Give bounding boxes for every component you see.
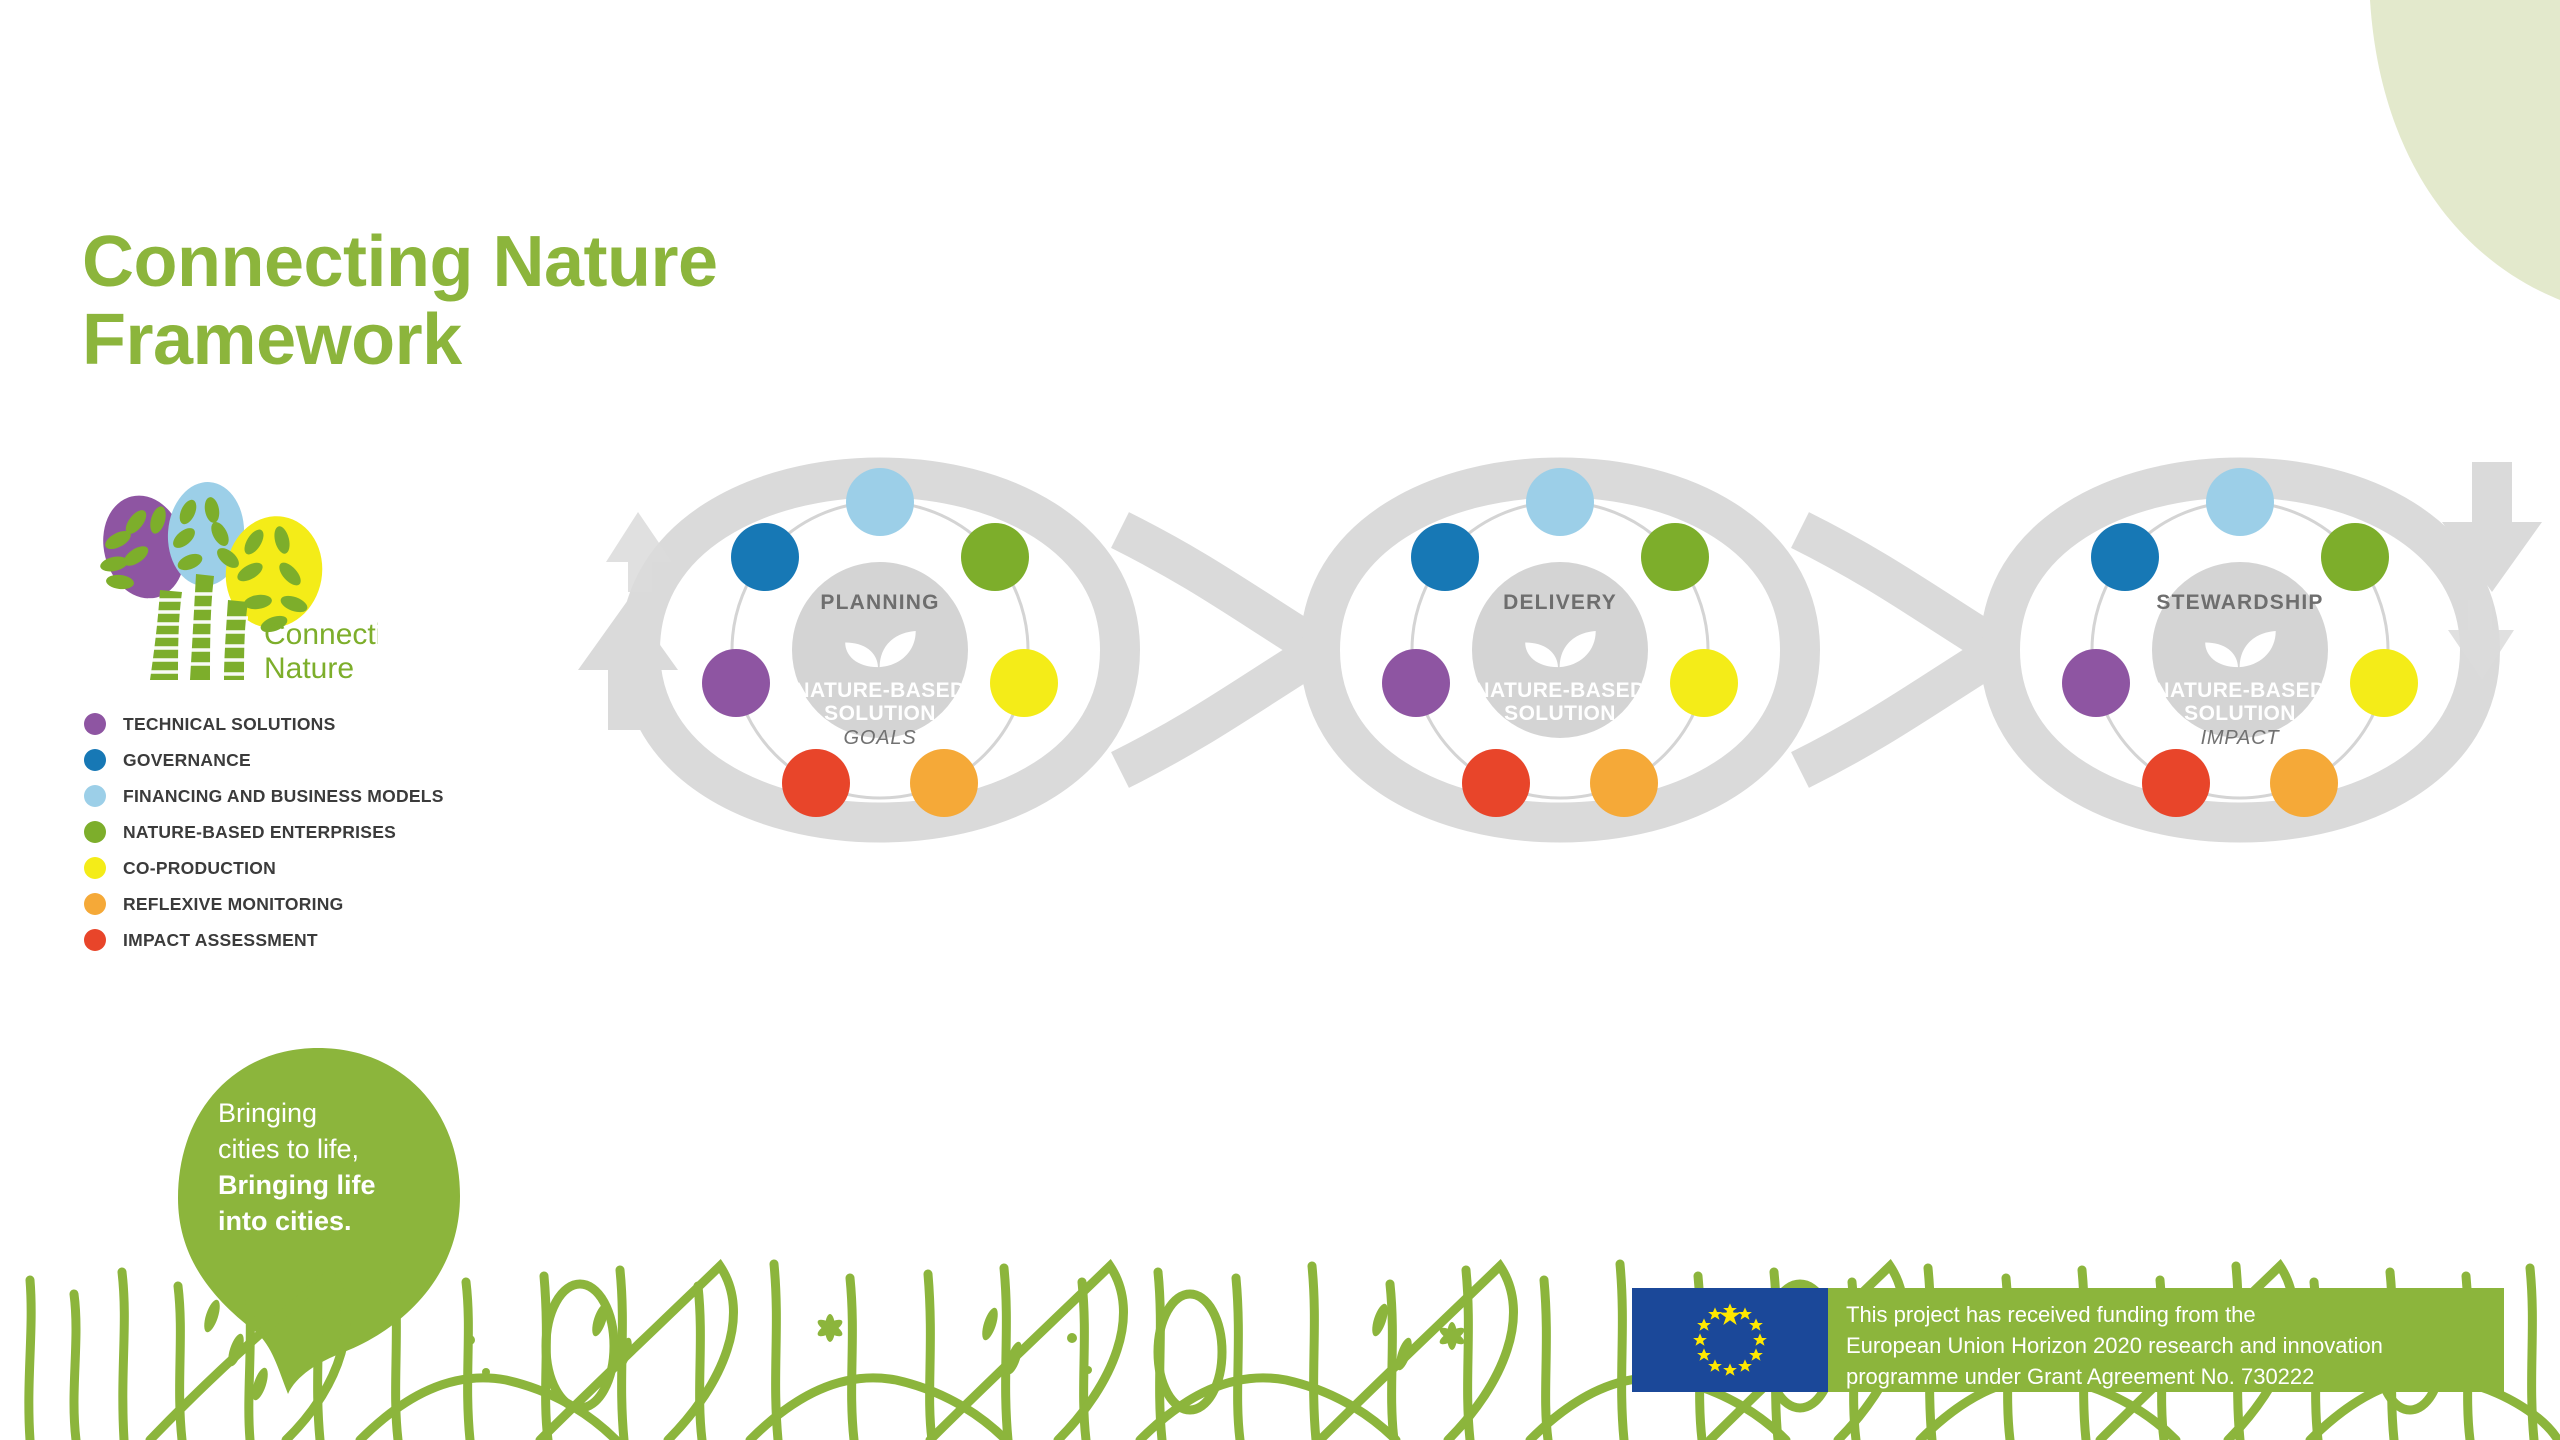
node-technical-solutions[interactable] bbox=[702, 649, 770, 717]
european-union-flag-icon bbox=[1632, 1288, 1828, 1392]
hub-nbs-line-2: SOLUTION bbox=[2184, 702, 2296, 725]
node-reflexive-monitoring[interactable] bbox=[1590, 749, 1658, 817]
legend-swatch-icon bbox=[84, 785, 106, 807]
node-financing-and-business-models[interactable] bbox=[846, 468, 914, 536]
legend-swatch-icon bbox=[84, 857, 106, 879]
node-reflexive-monitoring[interactable] bbox=[910, 749, 978, 817]
hub-stage-label: PLANNING bbox=[820, 591, 939, 614]
eu-funding-text: This project has received funding from t… bbox=[1828, 1288, 2504, 1392]
eu-funding-line-2: European Union Horizon 2020 research and… bbox=[1846, 1330, 2504, 1361]
legend-item-label: GOVERNANCE bbox=[123, 750, 251, 771]
node-reflexive-monitoring[interactable] bbox=[2270, 749, 2338, 817]
logo-name-line-2: Nature bbox=[264, 652, 354, 685]
node-nature-based-enterprises[interactable] bbox=[961, 523, 1029, 591]
tagline-line-1: Bringing bbox=[218, 1096, 448, 1132]
tagline-line-4: into cities. bbox=[218, 1204, 448, 1240]
tagline-line-3: Bringing life bbox=[218, 1168, 448, 1204]
legend-swatch-icon bbox=[84, 749, 106, 771]
hub-nbs-line-1: NATURE-BASED bbox=[2154, 679, 2325, 702]
hub-outcome-label: GOALS bbox=[844, 727, 917, 749]
node-co-production[interactable] bbox=[1670, 649, 1738, 717]
legend-item-label: NATURE-BASED ENTERPRISES bbox=[123, 822, 396, 843]
node-governance[interactable] bbox=[1411, 523, 1479, 591]
legend-swatch-icon bbox=[84, 893, 106, 915]
eu-funding-banner: This project has received funding from t… bbox=[1632, 1288, 2504, 1392]
eu-funding-line-3: programme under Grant Agreement No. 7302… bbox=[1846, 1361, 2504, 1392]
node-co-production[interactable] bbox=[990, 649, 1058, 717]
node-impact-assessment[interactable] bbox=[782, 749, 850, 817]
legend-swatch-icon bbox=[84, 713, 106, 735]
hub-stage-label: STEWARDSHIP bbox=[2156, 591, 2323, 614]
node-nature-based-enterprises[interactable] bbox=[2321, 523, 2389, 591]
legend-swatch-icon bbox=[84, 821, 106, 843]
node-technical-solutions[interactable] bbox=[1382, 649, 1450, 717]
node-impact-assessment[interactable] bbox=[2142, 749, 2210, 817]
node-financing-and-business-models[interactable] bbox=[1526, 468, 1594, 536]
hub-nbs-line-1: NATURE-BASED bbox=[794, 679, 965, 702]
node-technical-solutions[interactable] bbox=[2062, 649, 2130, 717]
node-nature-based-enterprises[interactable] bbox=[1641, 523, 1709, 591]
node-governance[interactable] bbox=[731, 523, 799, 591]
logo-name-line-1: Connecting bbox=[264, 618, 378, 651]
hub-nbs-line-2: SOLUTION bbox=[824, 702, 936, 725]
hub-stage-label: DELIVERY bbox=[1503, 591, 1617, 614]
legend-item-label: FINANCING AND BUSINESS MODELS bbox=[123, 786, 444, 807]
eu-funding-line-1: This project has received funding from t… bbox=[1846, 1299, 2504, 1330]
connecting-nature-logo: Connecting Nature bbox=[78, 482, 378, 702]
tagline-line-2: cities to life, bbox=[218, 1132, 448, 1168]
hub-nbs-line-2: SOLUTION bbox=[1504, 702, 1616, 725]
corner-wedge-decoration bbox=[2080, 0, 2560, 320]
node-governance[interactable] bbox=[2091, 523, 2159, 591]
legend-item-label: CO-PRODUCTION bbox=[123, 858, 276, 879]
node-co-production[interactable] bbox=[2350, 649, 2418, 717]
legend-item-label: REFLEXIVE MONITORING bbox=[123, 894, 344, 915]
legend-item-label: TECHNICAL SOLUTIONS bbox=[123, 714, 336, 735]
connecting-nature-framework-diagram: PLANNING NATURE-BASED SOLUTION GOALS DEL… bbox=[520, 300, 2560, 1000]
node-financing-and-business-models[interactable] bbox=[2206, 468, 2274, 536]
tagline-text: Bringing cities to life, Bringing life i… bbox=[218, 1096, 448, 1240]
page-title-line-1: Connecting Nature bbox=[82, 224, 902, 302]
hub-nbs-line-1: NATURE-BASED bbox=[1474, 679, 1645, 702]
hub-outcome-label: IMPACT bbox=[2201, 727, 2281, 749]
node-impact-assessment[interactable] bbox=[1462, 749, 1530, 817]
legend-swatch-icon bbox=[84, 929, 106, 951]
legend-item-label: IMPACT ASSESSMENT bbox=[123, 930, 318, 951]
